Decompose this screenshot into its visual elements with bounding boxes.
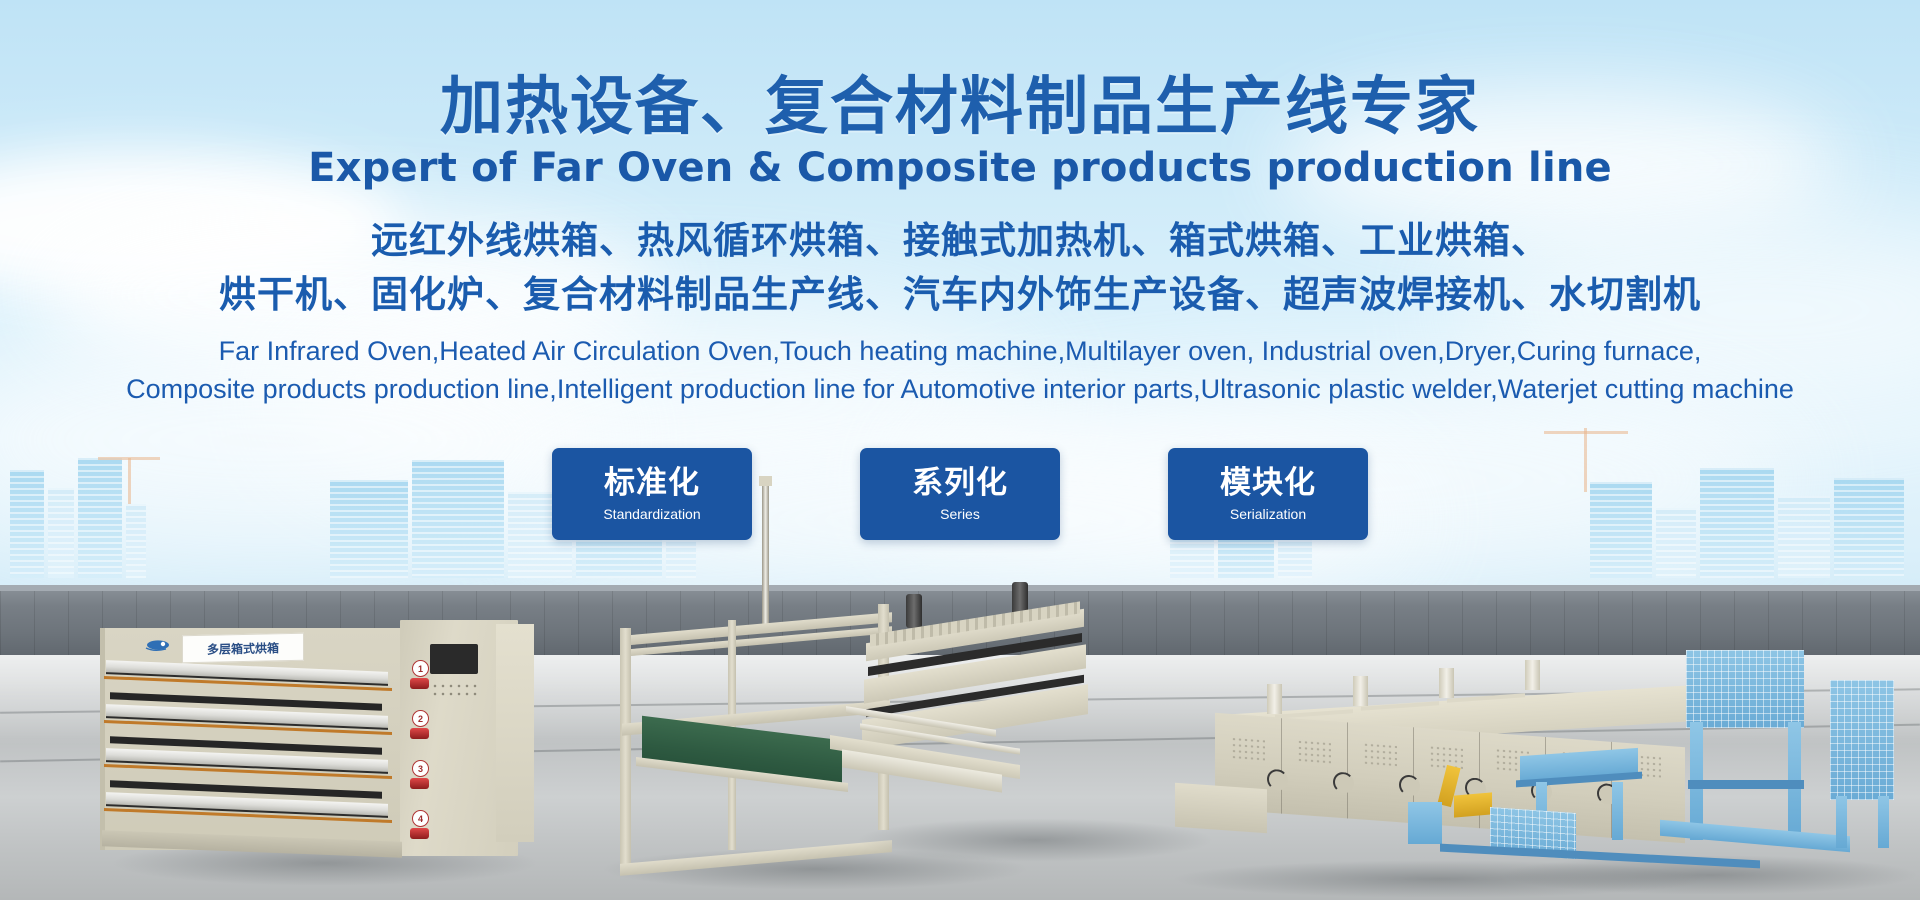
- oven-nameplate: 多层箱式烘箱: [182, 633, 304, 664]
- tunnel-vent-grid: [1297, 739, 1331, 765]
- press-column: [620, 628, 631, 874]
- badge-label-cn: 系列化: [912, 465, 1008, 501]
- feature-badges: 标准化 Standardization 系列化 Series 模块化 Seria…: [0, 448, 1920, 540]
- tunnel-inspection-port: [1333, 771, 1354, 794]
- product-list-chinese: 远红外线烘箱、热风循环烘箱、接触式加热机、箱式烘箱、工业烘箱、 烘干机、固化炉、…: [0, 214, 1920, 322]
- product-line-cn-2: 烘干机、固化炉、复合材料制品生产线、汽车内外饰生产设备、超声波焊接机、水切割机: [0, 268, 1920, 322]
- oven-knob[interactable]: [410, 778, 429, 789]
- headline-english: Expert of Far Oven & Composite products …: [0, 146, 1920, 190]
- blue-side-leg: [1836, 796, 1847, 848]
- tunnel-inspection-port: [1399, 774, 1420, 797]
- badge-label-en: Serialization: [1230, 504, 1306, 524]
- oven-hmi-screen[interactable]: [430, 644, 478, 674]
- construction-crane: [1544, 431, 1628, 434]
- oven-indicator-1: 1: [412, 660, 429, 677]
- tunnel-panel-seam: [1347, 722, 1348, 818]
- machine-hot-press: [860, 600, 1190, 800]
- product-list-english: Far Infrared Oven,Heated Air Circulation…: [0, 332, 1920, 408]
- badge-label-en: Standardization: [603, 504, 700, 524]
- press-mast: [762, 480, 769, 630]
- badge-label-en: Series: [940, 504, 980, 524]
- oven-indicator-3: 3: [412, 760, 429, 777]
- tunnel-inspection-port: [1267, 769, 1288, 792]
- oven-indicator-label: 3: [418, 764, 423, 774]
- blue-robot-controller: [1408, 802, 1442, 844]
- yellow-robot-base: [1454, 792, 1492, 817]
- blue-conveyor-deck: [1660, 820, 1850, 853]
- machine-blue-production-line: [1500, 660, 1920, 890]
- machine-multilayer-oven: 多层箱式烘箱 1 2 3 4: [100, 620, 530, 870]
- oven-knob[interactable]: [410, 728, 429, 739]
- product-line-en-1: Far Infrared Oven,Heated Air Circulation…: [0, 332, 1920, 370]
- oven-nameplate-label: 多层箱式烘箱: [207, 639, 279, 658]
- tunnel-panel-seam: [1281, 718, 1282, 814]
- press-bottom-beam: [620, 840, 892, 876]
- tunnel-exhaust-stack: [1267, 684, 1282, 714]
- oven-indicator-4: 4: [412, 810, 429, 827]
- badge-label-cn: 模块化: [1220, 465, 1316, 501]
- blue-gantry-crossbeam: [1688, 780, 1804, 789]
- tunnel-exhaust-stack: [1353, 676, 1368, 706]
- oven-rear-cabinet: [496, 624, 534, 842]
- tunnel-infeed-conveyor: [1175, 783, 1267, 833]
- oven-indicator-label: 4: [418, 814, 423, 824]
- badge-standardization[interactable]: 标准化 Standardization: [552, 448, 752, 540]
- oven-vent-dots: [431, 682, 479, 698]
- headline-chinese: 加热设备、复合材料制品生产线专家: [0, 74, 1920, 140]
- press-mast-cap: [759, 476, 772, 486]
- tunnel-vent-grid: [1231, 736, 1265, 762]
- blue-frame-gantry: [1686, 650, 1804, 728]
- oven-knob[interactable]: [410, 678, 429, 689]
- badge-modular[interactable]: 模块化 Serialization: [1168, 448, 1368, 540]
- oven-indicator-label: 2: [418, 714, 423, 724]
- badge-series[interactable]: 系列化 Series: [860, 448, 1060, 540]
- oven-indicator-label: 1: [418, 664, 423, 674]
- banner-text-block: 加热设备、复合材料制品生产线专家 Expert of Far Oven & Co…: [0, 0, 1920, 408]
- blue-feed-stand: [1612, 782, 1623, 840]
- banner-stage: 加热设备、复合材料制品生产线专家 Expert of Far Oven & Co…: [0, 0, 1920, 900]
- tunnel-vent-grid: [1363, 742, 1397, 768]
- tunnel-exhaust-stack: [1439, 668, 1454, 698]
- oven-indicator-2: 2: [412, 710, 429, 727]
- machine-shadow: [855, 818, 1215, 862]
- brand-logo-icon: [144, 639, 174, 653]
- oven-knob[interactable]: [410, 828, 429, 839]
- badge-label-cn: 标准化: [604, 465, 700, 501]
- blue-side-leg: [1878, 796, 1889, 848]
- product-line-cn-1: 远红外线烘箱、热风循环烘箱、接触式加热机、箱式烘箱、工业烘箱、: [0, 214, 1920, 268]
- press-cylinder: [906, 594, 922, 628]
- blue-side-module: [1830, 680, 1894, 800]
- product-line-en-2: Composite products production line,Intel…: [0, 370, 1920, 408]
